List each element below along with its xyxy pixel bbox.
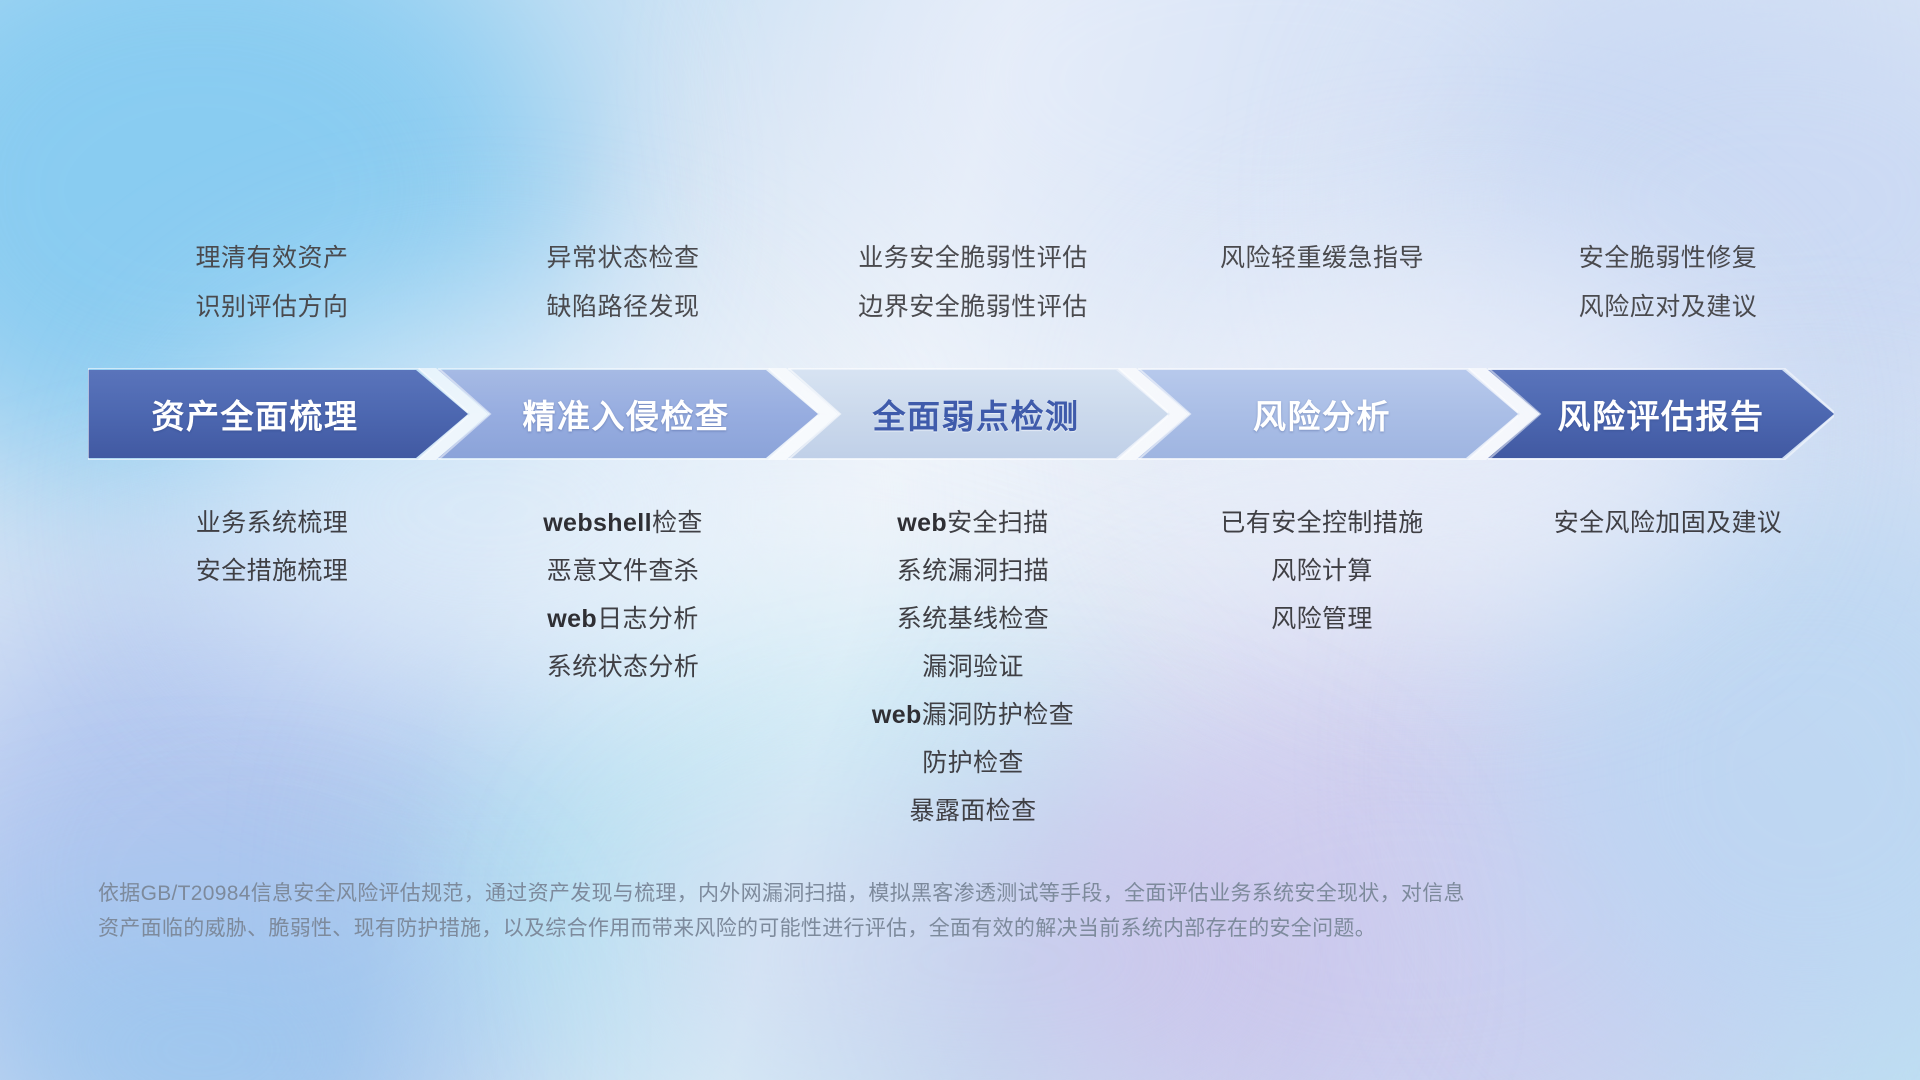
caption-line-1: 依据GB/T20984信息安全风险评估规范，通过资产发现与梳理，内外网漏洞扫描，…	[98, 876, 1658, 911]
detail-text: 检查	[652, 509, 703, 537]
top-line: 缺陷路径发现	[448, 283, 798, 332]
detail-text: 安全措施梳理	[196, 557, 348, 585]
chevron-stage-3[interactable]: 全面弱点检测	[788, 368, 1168, 460]
process-chevron-band: 资产全面梳理	[88, 368, 1834, 460]
chevron-label: 全面弱点检测	[788, 390, 1168, 438]
detail-text: 系统状态分析	[547, 653, 699, 681]
detail-text: 恶意文件查杀	[547, 557, 699, 585]
detail-text: 防护检查	[922, 749, 1024, 777]
detail-text: 漏洞验证	[922, 653, 1024, 681]
bottom-column-1: 业务系统梳理 安全措施梳理	[96, 460, 448, 835]
detail-item: webshell检查	[448, 499, 798, 547]
detail-emphasis: webshell	[543, 509, 652, 537]
detail-item: 恶意文件查杀	[448, 547, 798, 595]
top-column-2: 异常状态检查 缺陷路径发现	[448, 234, 798, 332]
chevron-stage-1[interactable]: 资产全面梳理	[88, 368, 468, 460]
detail-text: 业务系统梳理	[196, 509, 348, 537]
detail-item: 暴露面检查	[798, 787, 1148, 835]
detail-emphasis: web	[547, 605, 597, 633]
bottom-details-row: 业务系统梳理 安全措施梳理 webshell检查 恶意文件查杀 web日志分析 …	[96, 460, 1840, 835]
detail-item: 业务系统梳理	[96, 499, 448, 547]
chevron-label: 风险评估报告	[1488, 390, 1834, 438]
detail-text: 安全风险加固及建议	[1554, 509, 1783, 537]
chevron-label: 资产全面梳理	[88, 390, 468, 438]
detail-text: 日志分析	[597, 605, 699, 633]
top-line: 安全脆弱性修复	[1496, 234, 1840, 283]
detail-item: web漏洞防护检查	[798, 691, 1148, 739]
detail-text: 系统漏洞扫描	[897, 557, 1049, 585]
detail-text: 漏洞防护检查	[922, 701, 1074, 729]
detail-text: 系统基线检查	[897, 605, 1049, 633]
detail-item: 系统漏洞扫描	[798, 547, 1148, 595]
bottom-column-2: webshell检查 恶意文件查杀 web日志分析 系统状态分析	[448, 460, 798, 835]
top-line: 异常状态检查	[448, 234, 798, 283]
top-line: 业务安全脆弱性评估	[798, 234, 1148, 283]
chevron-stage-5[interactable]: 风险评估报告	[1488, 368, 1834, 460]
detail-emphasis: web	[897, 509, 947, 537]
top-annotations-row: 理清有效资产 识别评估方向 异常状态检查 缺陷路径发现 业务安全脆弱性评估 边界…	[96, 234, 1840, 332]
top-line: 识别评估方向	[96, 283, 448, 332]
detail-text: 风险计算	[1271, 557, 1373, 585]
chevron-label: 精准入侵检查	[438, 390, 818, 438]
chevron-stage-2[interactable]: 精准入侵检查	[438, 368, 818, 460]
detail-item: 系统基线检查	[798, 595, 1148, 643]
detail-item: 系统状态分析	[448, 643, 798, 691]
detail-item: 漏洞验证	[798, 643, 1148, 691]
detail-text: 暴露面检查	[909, 797, 1036, 825]
top-column-5: 安全脆弱性修复 风险应对及建议	[1496, 234, 1840, 332]
detail-item: 已有安全控制措施	[1148, 499, 1496, 547]
detail-item: 安全风险加固及建议	[1496, 499, 1840, 547]
top-column-1: 理清有效资产 识别评估方向	[96, 234, 448, 332]
footer-caption: 依据GB/T20984信息安全风险评估规范，通过资产发现与梳理，内外网漏洞扫描，…	[98, 876, 1658, 946]
top-line: 风险应对及建议	[1496, 283, 1840, 332]
detail-emphasis: web	[872, 701, 922, 729]
bottom-column-4: 已有安全控制措施 风险计算 风险管理	[1148, 460, 1496, 835]
detail-item: web安全扫描	[798, 499, 1148, 547]
top-line: 风险轻重缓急指导	[1148, 234, 1496, 283]
detail-text: 安全扫描	[947, 509, 1049, 537]
bottom-column-3: web安全扫描 系统漏洞扫描 系统基线检查 漏洞验证 web漏洞防护检查 防护检…	[798, 460, 1148, 835]
top-line: 边界安全脆弱性评估	[798, 283, 1148, 332]
detail-item: 风险管理	[1148, 595, 1496, 643]
chevron-stage-4[interactable]: 风险分析	[1138, 368, 1518, 460]
detail-item: 防护检查	[798, 739, 1148, 787]
detail-item: 安全措施梳理	[96, 547, 448, 595]
detail-item: 风险计算	[1148, 547, 1496, 595]
bottom-column-5: 安全风险加固及建议	[1496, 460, 1840, 835]
top-column-4: 风险轻重缓急指导	[1148, 234, 1496, 332]
caption-line-2: 资产面临的威胁、脆弱性、现有防护措施，以及综合作用而带来风险的可能性进行评估，全…	[98, 911, 1658, 946]
detail-text: 风险管理	[1271, 605, 1373, 633]
chevron-label: 风险分析	[1138, 390, 1518, 438]
top-column-3: 业务安全脆弱性评估 边界安全脆弱性评估	[798, 234, 1148, 332]
detail-item: web日志分析	[448, 595, 798, 643]
top-line: 理清有效资产	[96, 234, 448, 283]
detail-text: 已有安全控制措施	[1220, 509, 1423, 537]
